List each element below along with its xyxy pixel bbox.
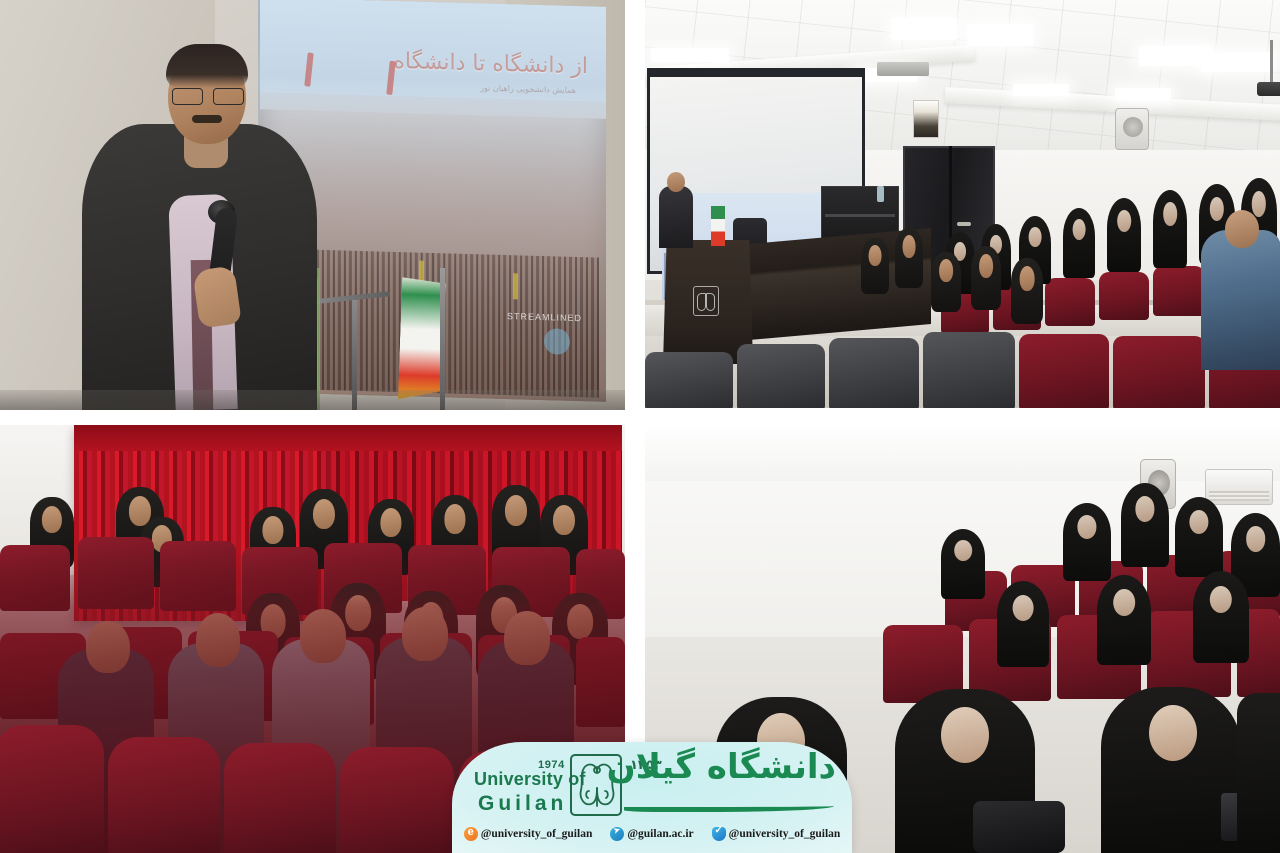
seat xyxy=(1099,272,1149,320)
iran-flag xyxy=(398,277,446,400)
audience-person xyxy=(997,581,1049,667)
door-handle xyxy=(957,222,971,226)
seat xyxy=(224,743,336,853)
seat xyxy=(1045,278,1095,326)
handbag xyxy=(973,801,1065,853)
air-conditioner-vent xyxy=(1209,491,1269,501)
glasses-icon xyxy=(172,88,244,103)
seat xyxy=(737,344,825,408)
audience-person-front-face xyxy=(941,707,989,763)
audience-person xyxy=(895,228,923,288)
ceiling-air-vent xyxy=(877,62,929,76)
seat xyxy=(0,725,104,853)
audience-person xyxy=(1097,575,1151,665)
audience-person xyxy=(1107,198,1141,272)
bale-icon xyxy=(712,827,726,841)
audience-person xyxy=(861,238,889,294)
wall-speaker xyxy=(1115,108,1149,150)
audience-person xyxy=(931,252,961,312)
podium-speaker-head xyxy=(667,172,685,192)
photo-top-right-hall xyxy=(645,0,1280,408)
seat xyxy=(1153,266,1205,316)
panel-light-1 xyxy=(891,18,957,40)
university-name-persian: دانشگاه گیلان xyxy=(607,750,836,784)
social-handles: @university_of_guilan @guilan.ac.ir @uni… xyxy=(452,827,852,841)
projector-mount-rod xyxy=(1270,40,1273,84)
seat xyxy=(1019,334,1109,408)
social-handle-bale-label: @university_of_guilan xyxy=(729,828,841,840)
audience-person xyxy=(1063,503,1111,581)
water-bottle xyxy=(877,186,884,202)
social-handle-bale[interactable]: @university_of_guilan xyxy=(712,827,841,841)
podium-speaker-person xyxy=(659,186,693,248)
audience-person xyxy=(1175,497,1223,577)
seat xyxy=(829,338,919,408)
seat xyxy=(340,747,454,853)
social-handle-telegram-label: @guilan.ac.ir xyxy=(627,828,693,840)
seat xyxy=(923,332,1015,408)
audience-person-foreground-head xyxy=(1225,210,1259,248)
speaker-moustache xyxy=(192,115,222,123)
ceiling xyxy=(645,425,1280,481)
audience-person xyxy=(1063,208,1095,278)
audience-person-front xyxy=(1237,693,1280,853)
audience-person-foreground xyxy=(1201,230,1280,370)
telegram-icon xyxy=(610,827,624,841)
audience-person xyxy=(1153,190,1187,268)
equipment-drawer-line xyxy=(825,214,895,217)
slide-watermark: STREAMLINED xyxy=(507,311,582,323)
ceiling-projector xyxy=(1257,82,1280,96)
slide-logo-badge xyxy=(544,328,570,355)
photo-collage: از دانشگاه تا دانشگاه همایش دانشجویی راه… xyxy=(0,0,1280,853)
speaker-hair xyxy=(166,44,248,88)
eitaa-icon xyxy=(464,827,478,841)
university-branding-banner: 1974 ۱۳۵۳ University of Guilan دانشگاه گ… xyxy=(452,742,852,853)
audience-person xyxy=(941,529,985,599)
audience-person xyxy=(1011,258,1043,324)
audience-person xyxy=(1121,483,1169,567)
seat xyxy=(645,352,733,408)
panel-light-7 xyxy=(1013,84,1069,96)
persian-calligraphy-swash xyxy=(624,802,834,812)
audience-person-front-face xyxy=(1149,705,1197,761)
seat xyxy=(1113,336,1205,408)
social-handle-eitaa[interactable]: @university_of_guilan xyxy=(464,827,593,841)
podium-iran-flag xyxy=(711,206,725,246)
foreground-desk-edge xyxy=(0,390,625,410)
slide-crowd-flag-3 xyxy=(513,273,518,299)
social-handle-telegram[interactable]: @guilan.ac.ir xyxy=(610,827,693,841)
photo-top-left-speaker: از دانشگاه تا دانشگاه همایش دانشجویی راه… xyxy=(0,0,625,410)
audience-person xyxy=(1193,571,1249,663)
panel-light-8 xyxy=(1115,88,1171,100)
iran-flag-pole xyxy=(440,268,445,410)
audience-person xyxy=(971,246,1001,310)
podium-emblem xyxy=(693,286,719,316)
panel-light-3 xyxy=(651,48,729,62)
social-handle-eitaa-label: @university_of_guilan xyxy=(481,828,593,840)
panel-light-2 xyxy=(967,24,1033,46)
panel-light-6 xyxy=(1201,52,1273,72)
curtain-valance xyxy=(74,425,622,451)
seat xyxy=(108,737,220,853)
wall-portrait xyxy=(913,100,939,138)
